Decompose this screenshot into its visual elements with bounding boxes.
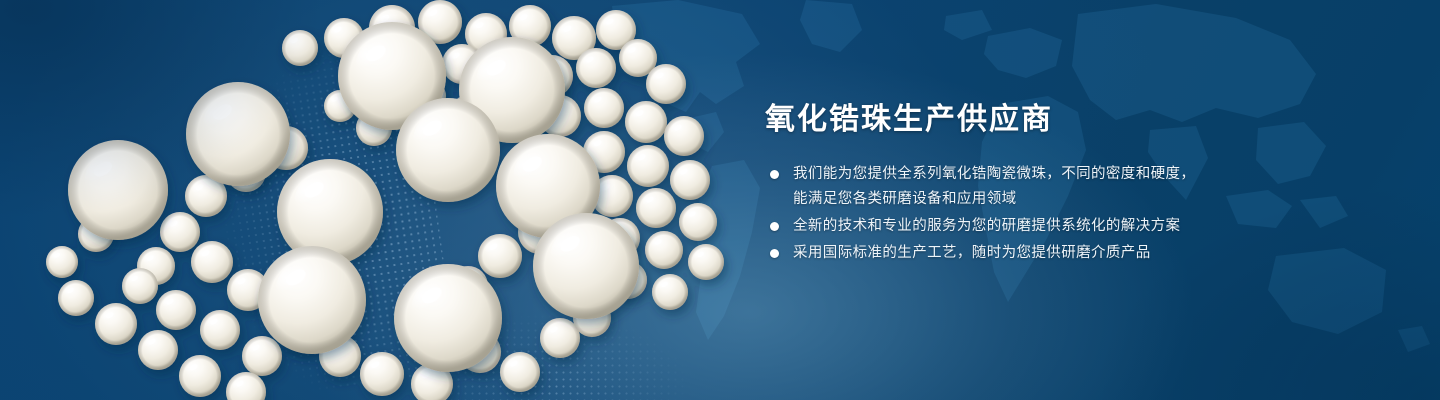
- zirconia-beads-image: [0, 0, 780, 400]
- feature-list: 我们能为您提供全系列氧化锆陶瓷微珠，不同的密度和硬度， 能满足您各类研磨设备和应…: [768, 162, 1225, 266]
- list-item-line-1: 采用国际标准的生产工艺，随时为您提供研磨介质产品: [793, 245, 1151, 261]
- bullet-dot-icon: [770, 249, 779, 258]
- page-title: 氧化锆珠生产供应商: [765, 100, 1225, 140]
- list-item: 全新的技术和专业的服务为您的研磨提供系统化的解决方案: [768, 214, 1225, 239]
- bullet-dot-icon: [770, 222, 779, 231]
- list-item: 采用国际标准的生产工艺，随时为您提供研磨介质产品: [768, 241, 1225, 266]
- list-item: 我们能为您提供全系列氧化锆陶瓷微珠，不同的密度和硬度， 能满足您各类研磨设备和应…: [768, 162, 1225, 212]
- list-item-line-1: 我们能为您提供全系列氧化锆陶瓷微珠，不同的密度和硬度，: [793, 166, 1195, 182]
- hero-banner: 氧化锆珠生产供应商 我们能为您提供全系列氧化锆陶瓷微珠，不同的密度和硬度， 能满…: [0, 0, 1440, 400]
- bullet-dot-icon: [770, 170, 779, 179]
- list-item-line-2: 能满足您各类研磨设备和应用领域: [793, 187, 1225, 212]
- list-item-line-1: 全新的技术和专业的服务为您的研磨提供系统化的解决方案: [793, 218, 1180, 234]
- banner-copy: 氧化锆珠生产供应商 我们能为您提供全系列氧化锆陶瓷微珠，不同的密度和硬度， 能满…: [765, 100, 1225, 268]
